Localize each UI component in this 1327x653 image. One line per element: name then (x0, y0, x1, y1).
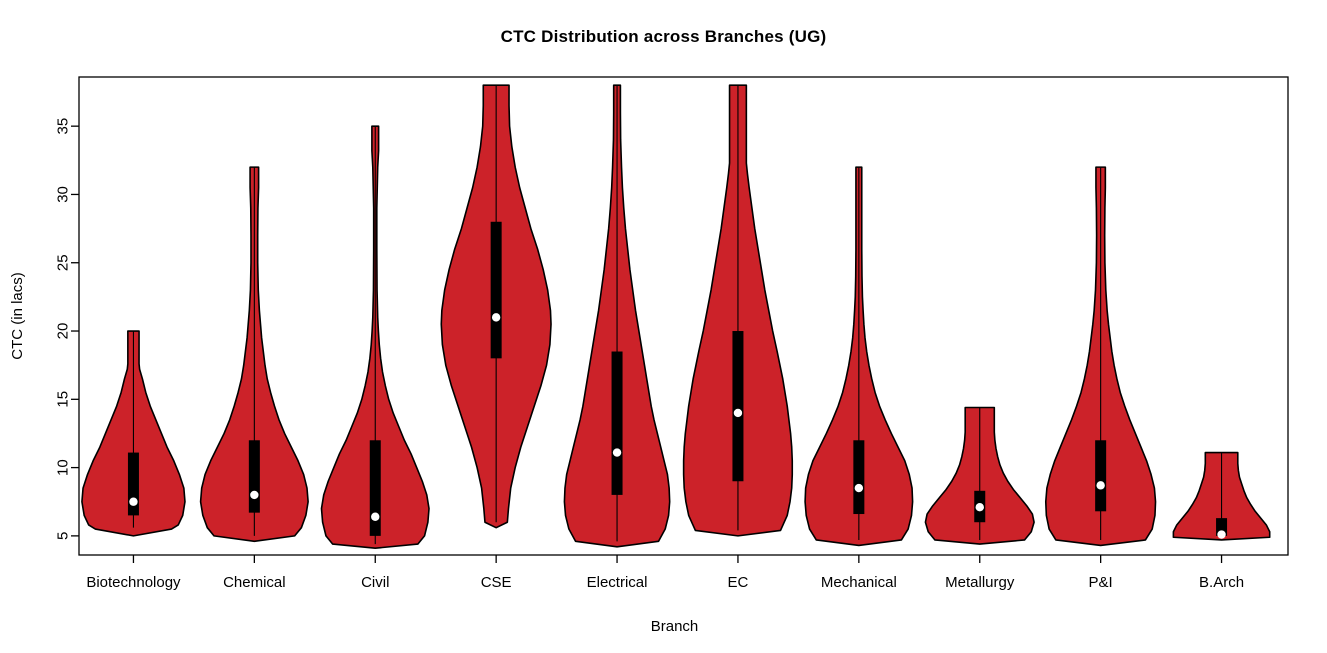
violin-plot-figure: CTC Distribution across Branches (UG) 51… (0, 0, 1327, 653)
x-axis-tick-label-biotechnology: Biotechnology (86, 574, 181, 591)
median-point (734, 409, 742, 417)
violin-ec[interactable] (684, 85, 793, 536)
violin-metallurgy[interactable] (925, 408, 1034, 545)
median-point (371, 513, 379, 521)
median-point (1096, 481, 1104, 489)
violin-chemical[interactable] (201, 167, 309, 541)
violin-b-arch[interactable] (1173, 453, 1269, 540)
median-point (129, 498, 137, 506)
violin-electrical[interactable] (564, 85, 669, 547)
x-axis-tick-label-metallurgy: Metallurgy (945, 574, 1015, 591)
x-axis-tick-label-cse: CSE (481, 574, 512, 591)
median-point (250, 491, 258, 499)
iqr-box (370, 440, 381, 536)
y-axis-tick-label: 35 (55, 118, 72, 135)
violin-p-i[interactable] (1046, 167, 1156, 545)
x-axis-tick-label-ec: EC (728, 574, 749, 591)
violin-biotechnology[interactable] (82, 331, 185, 536)
y-axis-tick-label: 10 (55, 459, 72, 476)
violins-layer (82, 85, 1270, 548)
median-point (1217, 530, 1225, 538)
iqr-box (853, 440, 864, 514)
iqr-box (128, 453, 139, 516)
iqr-box (1095, 440, 1106, 511)
x-axis-tick-label-b-arch: B.Arch (1199, 574, 1244, 591)
y-axis-tick-label: 30 (55, 186, 72, 203)
y-axis-tick-label: 20 (55, 323, 72, 340)
y-axis-title: CTC (in lacs) (9, 272, 26, 360)
median-point (492, 313, 500, 321)
median-point (855, 484, 863, 492)
y-axis-tick-label: 5 (55, 532, 72, 540)
violin-mechanical[interactable] (805, 167, 913, 545)
iqr-box (732, 331, 743, 481)
violin-cse[interactable] (441, 85, 551, 527)
x-axis-tick-label-p-i: P&I (1089, 574, 1113, 591)
chart-canvas: 5101520253035BiotechnologyChemicalCivilC… (0, 0, 1327, 653)
iqr-box (612, 352, 623, 495)
x-axis-tick-label-chemical: Chemical (223, 574, 286, 591)
x-axis-tick-label-civil: Civil (361, 574, 389, 591)
iqr-box (491, 222, 502, 359)
iqr-box (249, 440, 260, 512)
median-point (976, 503, 984, 511)
x-axis-title: Branch (651, 618, 699, 635)
median-point (613, 448, 621, 456)
violin-civil[interactable] (321, 126, 429, 548)
y-axis-tick-label: 15 (55, 391, 72, 408)
x-axis-tick-label-electrical: Electrical (587, 574, 648, 591)
x-axis-tick-label-mechanical: Mechanical (821, 574, 897, 591)
y-axis-tick-label: 25 (55, 254, 72, 271)
